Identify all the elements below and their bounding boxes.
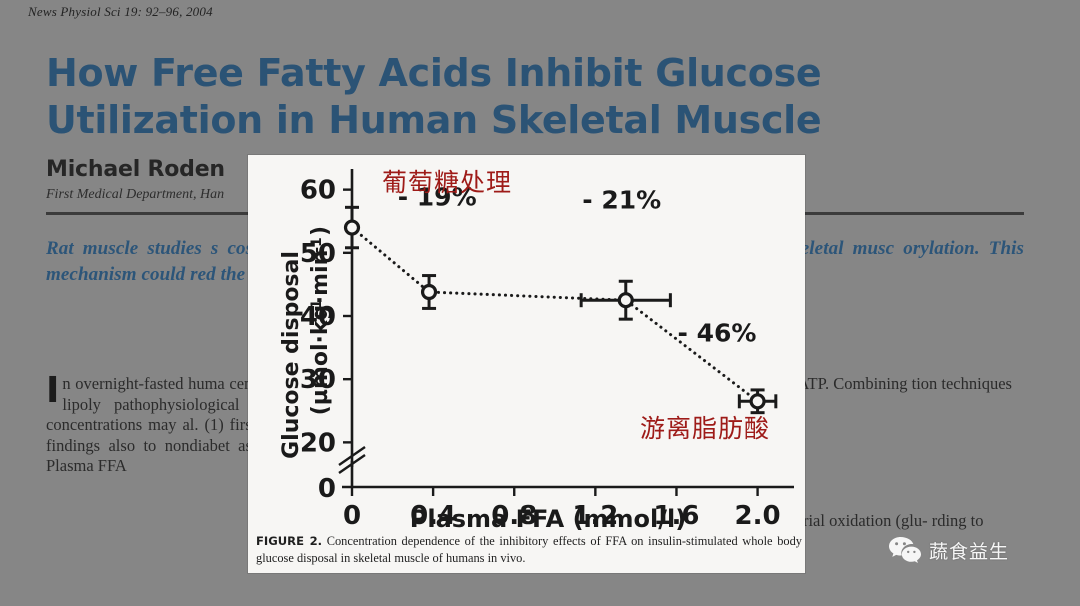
x-tick-label: 0 — [343, 501, 361, 531]
svg-text:): ) — [308, 226, 333, 236]
drop-cap: I — [46, 376, 59, 406]
wechat-icon — [888, 536, 922, 564]
chart-plot-area: Glucose disposal (µmol·kg -1 ·min -1 ) 2… — [248, 155, 805, 535]
figure-caption: FIGURE 2. Concentration dependence of th… — [256, 533, 802, 566]
annotation-ffa-label: 游离脂肪酸 — [640, 409, 770, 445]
data-point — [581, 281, 670, 319]
page-title: How Free Fatty Acids Inhibit Glucose Uti… — [46, 50, 1006, 144]
y-tick-label: 50 — [300, 239, 336, 269]
x-axis-label: Plasma FFA (mmol/l) — [410, 505, 686, 533]
y-origin-label: 0 — [318, 474, 336, 504]
y-tick-label: 20 — [300, 428, 336, 458]
data-point-marker — [346, 221, 359, 234]
x-tick-label: 2.0 — [735, 501, 781, 531]
data-point — [422, 276, 436, 309]
y-tick-label: 60 — [300, 176, 336, 206]
y-tick-label: 40 — [300, 302, 336, 332]
percent-annotation: - 46% — [678, 318, 757, 347]
percent-annotation: - 21% — [582, 186, 661, 215]
author-name: Michael Roden — [46, 157, 225, 182]
data-point-marker — [619, 294, 632, 307]
figure-caption-number: FIGURE 2. — [256, 534, 322, 548]
watermark-text: 蔬食益生 — [929, 537, 1009, 564]
journal-running-head: News Physiol Sci 19: 92–96, 2004 — [28, 4, 213, 20]
watermark: 蔬食益生 — [888, 536, 1009, 564]
data-series-line — [352, 228, 758, 402]
annotation-glucose-label: 葡萄糖处理 — [382, 163, 512, 199]
chart-svg: Glucose disposal (µmol·kg -1 ·min -1 ) 2… — [248, 155, 805, 535]
figure-caption-text: Concentration dependence of the inhibito… — [256, 534, 802, 565]
figure-panel: Glucose disposal (µmol·kg -1 ·min -1 ) 2… — [248, 155, 805, 573]
data-point-marker — [751, 395, 764, 408]
data-point — [345, 207, 359, 247]
slide-canvas: News Physiol Sci 19: 92–96, 2004 How Fre… — [0, 0, 1080, 606]
data-point-marker — [423, 285, 436, 298]
y-tick-label: 30 — [300, 365, 336, 395]
